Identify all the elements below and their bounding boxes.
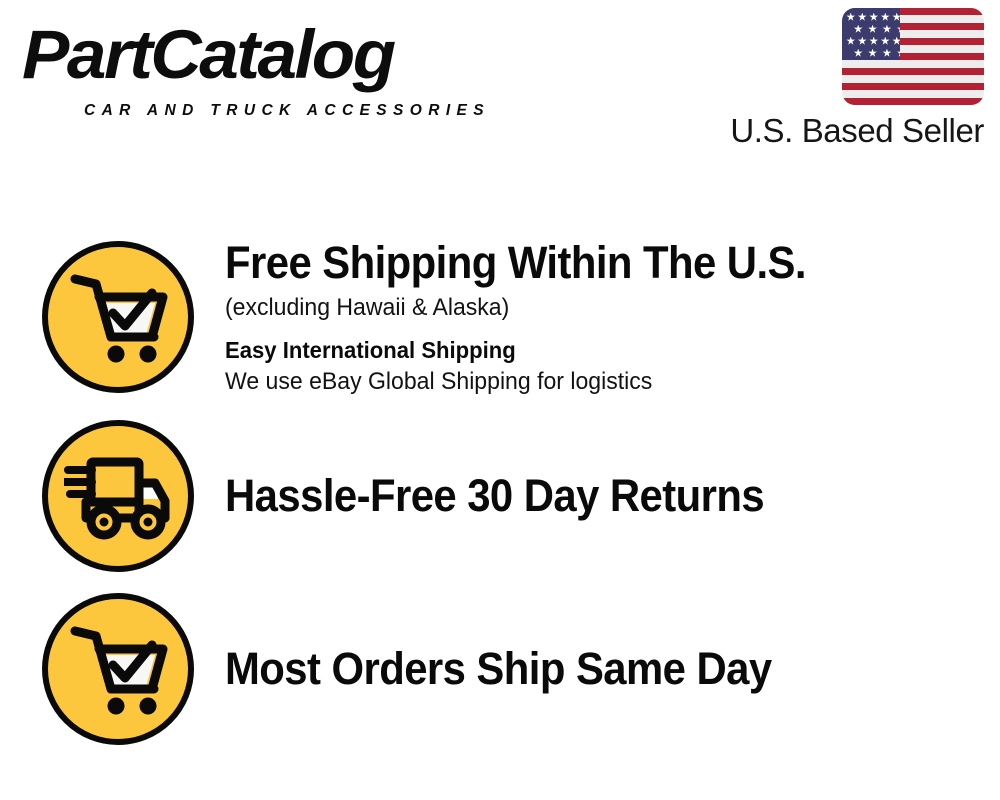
shopping-cart-check-icon bbox=[42, 593, 194, 745]
us-based-seller-badge: U.S. Based Seller bbox=[714, 8, 984, 151]
brand-tagline: CAR AND TRUCK ACCESSORIES bbox=[84, 102, 490, 120]
flag-stripe bbox=[842, 98, 984, 105]
flag-star bbox=[854, 25, 863, 34]
feature-title: Most Orders Ship Same Day bbox=[225, 643, 927, 695]
feature-title: Hassle-Free 30 Day Returns bbox=[225, 470, 927, 522]
shopping-cart-check-icon bbox=[42, 241, 194, 393]
partcatalog-logo: PartCatalog CAR AND TRUCK ACCESSORIES bbox=[22, 16, 492, 116]
feature-row: Free Shipping Within The U.S. (excluding… bbox=[0, 232, 1000, 402]
flag-star bbox=[868, 49, 877, 58]
flag-stripe bbox=[842, 90, 984, 97]
flag-stripe bbox=[842, 75, 984, 82]
banner-header: PartCatalog CAR AND TRUCK ACCESSORIES bbox=[0, 0, 1000, 175]
flag-star bbox=[846, 13, 855, 22]
flag-star bbox=[858, 37, 867, 46]
flag-star bbox=[892, 37, 899, 46]
flag-star-row bbox=[842, 12, 900, 22]
us-based-seller-label: U.S. Based Seller bbox=[714, 111, 984, 151]
flag-stripe bbox=[842, 68, 984, 75]
flag-star bbox=[897, 25, 900, 34]
feature-text-block: Hassle-Free 30 Day Returns bbox=[194, 470, 1000, 522]
feature-title: Free Shipping Within The U.S. bbox=[225, 237, 927, 289]
flag-star-row bbox=[842, 36, 900, 46]
feature-text-block: Free Shipping Within The U.S. (excluding… bbox=[194, 237, 1000, 398]
feature-row: Hassle-Free 30 Day Returns bbox=[0, 411, 1000, 581]
flag-star bbox=[869, 37, 878, 46]
flag-star bbox=[858, 13, 867, 22]
flag-star bbox=[892, 13, 899, 22]
flag-star-row bbox=[842, 24, 900, 34]
flag-star-row bbox=[842, 48, 900, 58]
flag-canton bbox=[842, 8, 900, 60]
flag-star bbox=[881, 13, 890, 22]
flag-star bbox=[869, 13, 878, 22]
delivery-truck-icon bbox=[42, 420, 194, 572]
feature-secondary-subtitle: We use eBay Global Shipping for logistic… bbox=[225, 366, 950, 398]
flag-star bbox=[868, 25, 877, 34]
feature-subtitle: (excluding Hawaii & Alaska) bbox=[225, 292, 950, 324]
brand-wordmark: PartCatalog bbox=[22, 16, 394, 94]
flag-star bbox=[881, 37, 890, 46]
flag-star bbox=[846, 37, 855, 46]
feature-row: Most Orders Ship Same Day bbox=[0, 584, 1000, 754]
flag-star bbox=[882, 25, 891, 34]
flag-star bbox=[854, 49, 863, 58]
shipping-info-banner: PartCatalog CAR AND TRUCK ACCESSORIES bbox=[0, 0, 1000, 800]
flag-star bbox=[882, 49, 891, 58]
feature-text-block: Most Orders Ship Same Day bbox=[194, 643, 1000, 695]
us-flag-icon bbox=[842, 8, 984, 105]
feature-secondary-title: Easy International Shipping bbox=[225, 335, 950, 365]
flag-star bbox=[897, 49, 900, 58]
flag-stripe bbox=[842, 60, 984, 67]
flag-stripe bbox=[842, 83, 984, 90]
